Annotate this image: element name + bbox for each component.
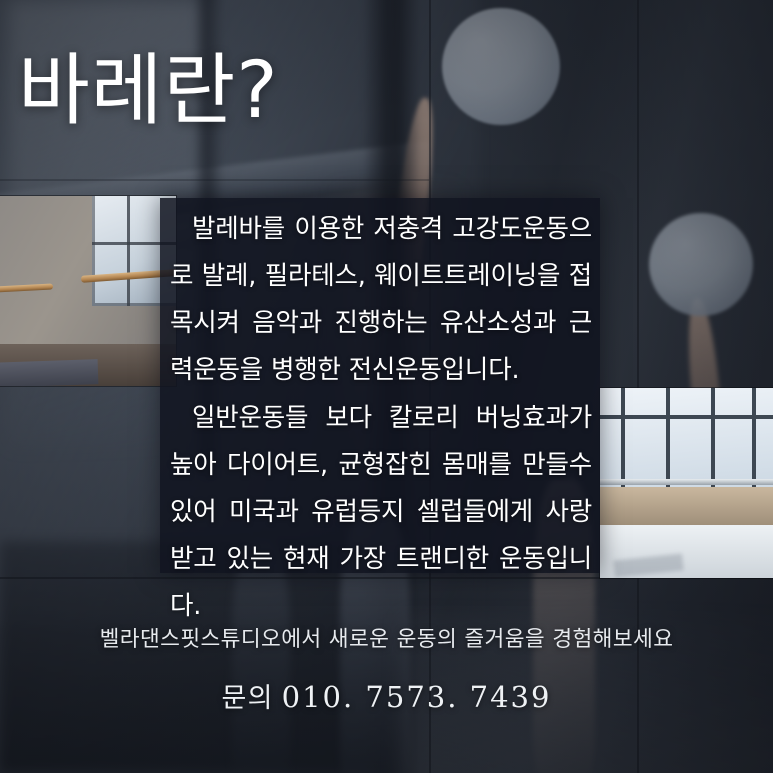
photo-right-mullion-4: [752, 388, 756, 487]
photo-right-window-wall: [600, 388, 773, 487]
photo-right-mullion-3: [711, 388, 715, 487]
photo-right-mullion-2: [666, 388, 670, 487]
poster-canvas: 바레란?: [0, 0, 773, 773]
barre-class-photo-right: [600, 388, 773, 578]
page-title: 바레란?: [18, 52, 279, 130]
contact-label: 문의: [222, 683, 274, 714]
photo-right-barre-rail: [600, 479, 773, 485]
contact-phone-number: 010. 7573. 7439: [282, 680, 552, 714]
photo-left-mat: [0, 359, 99, 386]
photo-right-mullion-h: [600, 415, 773, 419]
description-paragraph-1: 발레바를 이용한 저충격 고강도운동으로 발레, 필라테스, 웨이트트레이닝을 …: [160, 206, 600, 394]
description-paragraph-2: 일반운동들 보다 칼로리 버닝효과가 높아 다이어트, 균형잡힌 몸매를 만들수…: [160, 395, 600, 630]
barre-class-photo-left: [0, 196, 176, 386]
contact-line: 문의010. 7573. 7439: [0, 676, 773, 715]
description-text: 발레바를 이용한 저충격 고강도운동으로 발레, 필라테스, 웨이트트레이닝을 …: [160, 206, 600, 630]
photo-left-window-mullion-v: [127, 196, 130, 306]
photo-right-ledge: [600, 487, 773, 529]
photo-right-mullion-1: [621, 388, 625, 487]
studio-tagline: 벨라댄스핏스튜디오에서 새로운 운동의 즐거움을 경험해보세요: [0, 622, 773, 653]
